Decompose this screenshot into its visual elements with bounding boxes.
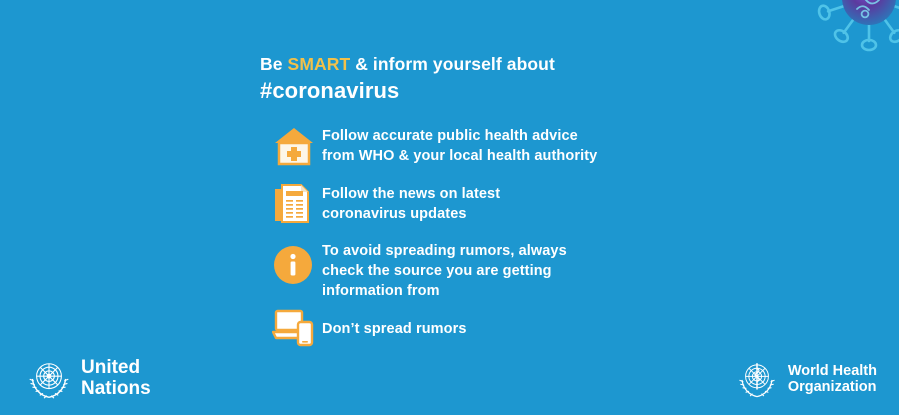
devices-icon — [272, 305, 322, 349]
advice-item-verify-source: To avoid spreading rumors, always check … — [272, 241, 692, 301]
headline-suffix: & inform yourself about — [350, 54, 555, 74]
united-nations-emblem-icon — [26, 355, 72, 401]
united-nations-wordmark: United Nations — [81, 357, 151, 399]
advice-item-label: Don’t spread rumors — [322, 305, 467, 339]
headline: Be SMART & inform yourself about #corona… — [260, 52, 555, 105]
advice-item-label: Follow accurate public health advice fro… — [322, 122, 597, 166]
headline-line-1: Be SMART & inform yourself about — [260, 52, 555, 76]
advice-item-health-advice: Follow accurate public health advice fro… — [272, 122, 692, 170]
headline-hashtag: #coronavirus — [260, 77, 555, 105]
world-health-organization-wordmark: World Health Organization — [788, 363, 877, 395]
information-icon — [272, 241, 322, 289]
united-nations-logo: United Nations — [26, 355, 151, 401]
health-facility-icon — [272, 122, 322, 170]
headline-smart-word: SMART — [288, 54, 351, 74]
advice-list: Follow accurate public health advice fro… — [272, 122, 692, 349]
world-health-organization-logo: World Health Organization — [735, 357, 877, 401]
advice-item-news: Follow the news on latest coronavirus up… — [272, 179, 692, 227]
advice-item-label: Follow the news on latest coronavirus up… — [322, 179, 500, 224]
advice-item-label: To avoid spreading rumors, always check … — [322, 241, 567, 301]
advice-item-no-rumors: Don’t spread rumors — [272, 305, 692, 349]
headline-prefix: Be — [260, 54, 288, 74]
world-health-organization-emblem-icon — [735, 357, 779, 401]
newspaper-icon — [272, 179, 322, 227]
coronavirus-graphic — [783, 0, 899, 84]
